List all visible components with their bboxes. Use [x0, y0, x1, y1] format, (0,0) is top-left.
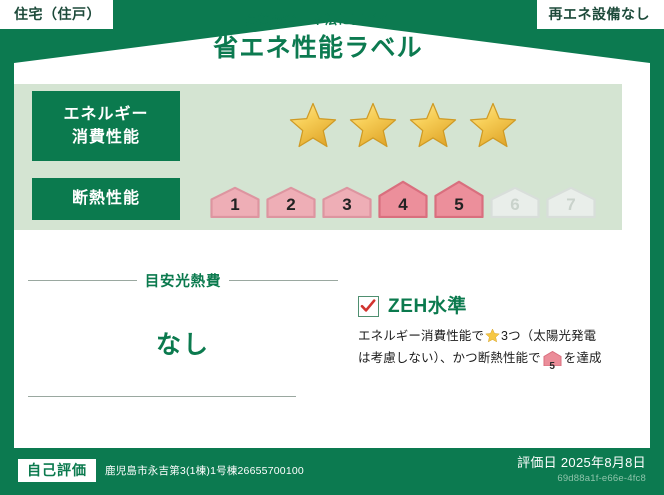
insulation-level-number: 2: [265, 196, 318, 213]
zeh-checkbox[interactable]: [358, 296, 379, 317]
insulation-level-chip: 4: [377, 180, 430, 218]
star-icon: [406, 99, 460, 153]
star-rating: [286, 99, 520, 153]
energy-label-line1: エネルギー: [63, 106, 148, 123]
insulation-performance-label: 断熱性能: [32, 178, 180, 219]
footer-bar: 自己評価 鹿児島市永吉第3(1棟)1号棟26655700100 評価日 2025…: [0, 448, 664, 495]
insulation-level-chip: 1: [209, 186, 262, 218]
evaluation-id: 69d88a1f-e66e-4fc8: [517, 474, 646, 484]
insulation-performance-value: 1234567: [180, 180, 622, 218]
utility-cost-block: 目安光熱費 なし: [28, 270, 338, 361]
zeh-star-count: 3つ（太陽光発電: [501, 329, 596, 343]
energy-label-line2: 消費性能: [72, 129, 140, 146]
star-icon: [286, 99, 340, 153]
check-icon: [360, 298, 376, 314]
insulation-level-chip: 5: [433, 180, 486, 218]
zeh-heading: ZEH水準: [358, 296, 638, 317]
insulation-level-number: 3: [321, 196, 374, 213]
insulation-level-chip: 2: [265, 186, 318, 218]
evaluation-date-label: 評価日: [517, 455, 557, 470]
insulation-level-chip: 3: [321, 186, 374, 218]
footer-right: 評価日 2025年8月8日 69d88a1f-e66e-4fc8: [517, 456, 646, 484]
zeh-desc-part1: エネルギー消費性能で: [358, 329, 484, 343]
evaluation-type-badge: 自己評価: [18, 459, 96, 482]
insulation-level-chip: 7: [545, 186, 598, 218]
insulation-level-number: 5: [433, 196, 486, 213]
insulation-level-number: 4: [377, 196, 430, 213]
heading-rule-right: [229, 280, 338, 281]
insulation-level-chip: 6: [489, 186, 542, 218]
inline-level-badge: 5: [543, 351, 562, 372]
heading-rule-left: [28, 280, 137, 281]
zeh-block: ZEH水準 エネルギー消費性能で 3つ（太陽光発電は考慮しない）、かつ断熱性能で…: [358, 296, 638, 373]
building-type-tag: 住宅（住戸）: [0, 0, 113, 29]
insulation-level-scale: 1234567: [209, 180, 598, 218]
insulation-performance-row: 断熱性能 1234567: [14, 168, 622, 230]
star-icon: [346, 99, 400, 153]
footer-left: 自己評価 鹿児島市永吉第3(1棟)1号棟26655700100: [18, 459, 304, 482]
zeh-description: エネルギー消費性能で 3つ（太陽光発電は考慮しない）、かつ断熱性能で 5 を達成: [358, 327, 638, 373]
star-icon: [466, 99, 520, 153]
rating-panel: エネルギー 消費性能 断熱性能 1234567: [14, 84, 622, 230]
insulation-level-number: 6: [489, 196, 542, 213]
energy-performance-row: エネルギー 消費性能: [14, 84, 622, 168]
evaluation-date: 評価日 2025年8月8日: [517, 456, 646, 470]
utility-cost-bottom-rule: [28, 396, 296, 397]
utility-cost-heading-text: 目安光熱費: [145, 270, 222, 291]
insulation-level-number: 1: [209, 196, 262, 213]
utility-cost-value: なし: [28, 325, 338, 361]
energy-performance-label: エネルギー 消費性能: [32, 91, 180, 161]
zeh-title: ZEH水準: [388, 297, 467, 316]
utility-cost-heading: 目安光熱費: [28, 270, 338, 291]
zeh-desc-part2: は考慮しない）、かつ断熱性能で: [358, 351, 541, 365]
energy-performance-value: [180, 99, 622, 153]
evaluation-date-value: 2025年8月8日: [561, 455, 646, 470]
zeh-desc-part3: を達成: [564, 351, 602, 365]
inline-level-badge-number: 5: [543, 362, 562, 372]
inline-star-icon: [485, 328, 500, 349]
lower-section: 目安光熱費 なし ZEH水準 エネルギー消費性能で 3つ（太陽光発電は考慮しない…: [14, 270, 650, 445]
renewable-energy-tag: 再エネ設備なし: [537, 0, 664, 29]
insulation-level-number: 7: [545, 196, 598, 213]
property-address: 鹿児島市永吉第3(1棟)1号棟26655700100: [105, 463, 304, 478]
